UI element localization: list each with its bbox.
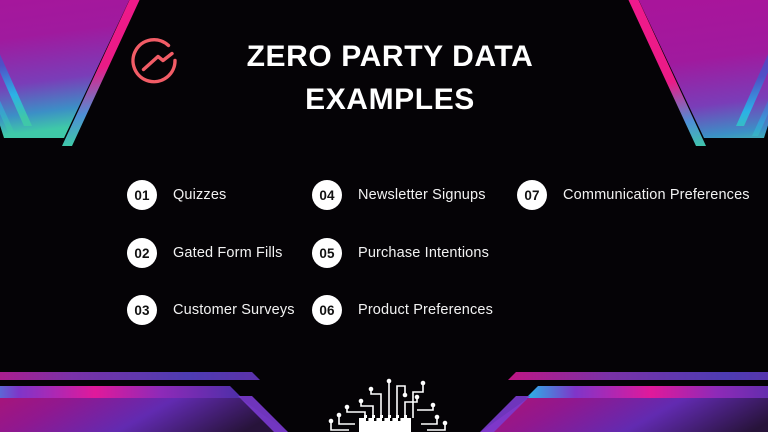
decoration-top-right [572, 0, 768, 146]
item-label: Newsletter Signups [358, 187, 486, 203]
title-line-1: ZERO PARTY DATA [210, 36, 570, 79]
item-label: Product Preferences [358, 302, 493, 318]
list-item[interactable]: 06 Product Preferences [312, 295, 493, 325]
slide-canvas: ZERO PARTY DATA EXAMPLES 01 Quizzes 02 G… [0, 0, 768, 432]
item-number-badge: 04 [312, 180, 342, 210]
item-number-badge: 06 [312, 295, 342, 325]
examples-list: 01 Quizzes 02 Gated Form Fills 03 Custom… [0, 176, 768, 336]
list-item[interactable]: 03 Customer Surveys [127, 295, 295, 325]
item-label: Gated Form Fills [173, 245, 283, 261]
title-line-2: EXAMPLES [210, 79, 570, 122]
item-label: Purchase Intentions [358, 245, 489, 261]
item-label: Customer Surveys [173, 302, 295, 318]
circuit-chip-icon [309, 372, 459, 432]
list-item[interactable]: 05 Purchase Intentions [312, 238, 489, 268]
item-number-badge: 05 [312, 238, 342, 268]
brand-logo-icon [128, 34, 184, 90]
list-item[interactable]: 04 Newsletter Signups [312, 180, 486, 210]
item-number-badge: 01 [127, 180, 157, 210]
item-number-badge: 02 [127, 238, 157, 268]
list-item[interactable]: 02 Gated Form Fills [127, 238, 283, 268]
page-title: ZERO PARTY DATA EXAMPLES [210, 36, 570, 121]
decoration-bottom-right [478, 356, 768, 432]
decoration-bottom-left [0, 356, 290, 432]
item-number-badge: 03 [127, 295, 157, 325]
item-label: Quizzes [173, 187, 226, 203]
list-item[interactable]: 07 Communication Preferences [517, 180, 750, 210]
item-label: Communication Preferences [563, 187, 750, 203]
item-number-badge: 07 [517, 180, 547, 210]
list-item[interactable]: 01 Quizzes [127, 180, 226, 210]
